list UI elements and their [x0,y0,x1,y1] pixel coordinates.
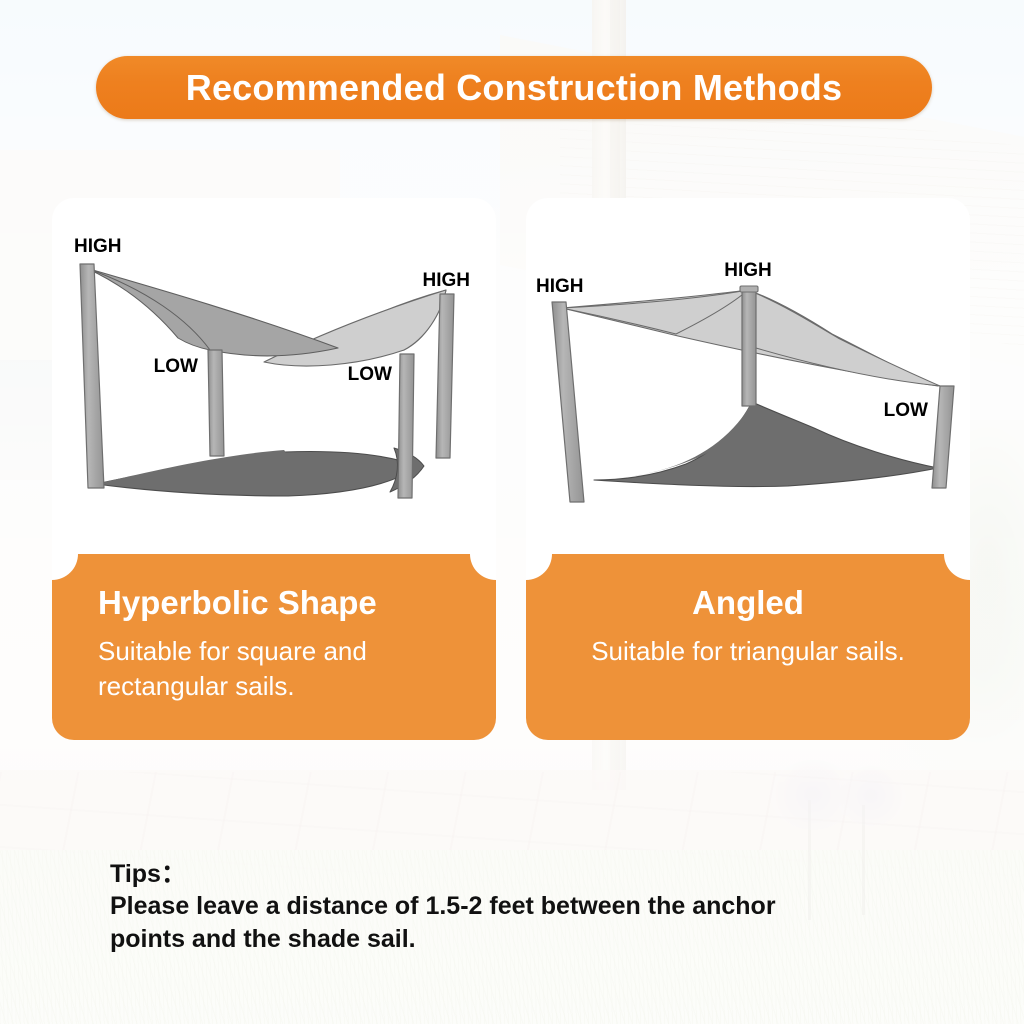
method-caption-angled: Angled Suitable for triangular sails. [526,554,970,740]
card-notch-right [470,554,496,580]
sail-upper-light-right [748,290,940,386]
label-low-right: LOW [884,400,928,421]
method-card-angled: HIGH HIGH LOW Angled Suitable for triang… [526,198,970,740]
pole-inner-right-low [398,354,414,498]
pole-right-high [436,294,454,458]
angled-sail-diagram: HIGH HIGH LOW [526,198,970,554]
label-high-left: HIGH [74,236,122,257]
pole-center-cap [740,286,758,292]
label-high-right: HIGH [423,270,471,291]
label-high-left: HIGH [536,276,584,297]
tips-label: Tips： [110,858,940,890]
pole-inner-left-low [208,350,224,456]
method-caption-hyperbolic: Hyperbolic Shape Suitable for square and… [52,554,496,740]
card-notch-left [526,554,552,580]
card-notch-right [944,554,970,580]
pole-right-low [932,386,954,488]
pole-center-high [742,290,756,406]
page-title-banner: Recommended Construction Methods [96,56,932,119]
tips-line-2: points and the shade sail. [110,923,940,956]
sail-upper-mid [86,268,338,356]
hyperbolic-sail-diagram: HIGH HIGH LOW LOW [52,198,496,554]
label-high-center: HIGH [724,260,772,281]
pole-left-high [552,302,584,502]
tips-line-1: Please leave a distance of 1.5-2 feet be… [110,890,940,923]
method-card-hyperbolic: HIGH HIGH LOW LOW Hyperbolic Shape Suita… [52,198,496,740]
tips-block: Tips： Please leave a distance of 1.5-2 f… [110,858,940,955]
method-description: Suitable for square and rectangular sail… [52,634,496,703]
method-description: Suitable for triangular sails. [526,634,970,668]
pole-left-high [80,264,104,488]
page-title: Recommended Construction Methods [186,67,842,109]
label-low-left: LOW [154,356,198,377]
card-notch-left [52,554,78,580]
method-title: Angled [526,584,970,622]
method-title: Hyperbolic Shape [52,584,496,622]
label-low-right: LOW [348,364,392,385]
